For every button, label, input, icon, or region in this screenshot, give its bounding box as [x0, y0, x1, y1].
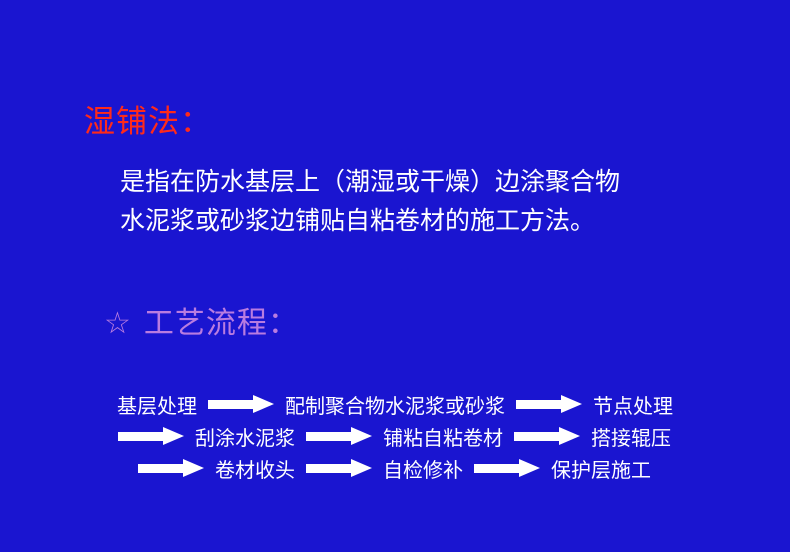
flow-label: 卷材收头: [209, 454, 301, 483]
flow-label: 刮涂水泥浆: [189, 422, 301, 451]
flow-label: 节点处理: [587, 390, 679, 419]
flow-label: 保护层施工: [545, 454, 657, 483]
arrow-right-icon: [118, 427, 184, 445]
arrow-right-icon: [138, 459, 204, 477]
arrow-right-icon: [516, 395, 582, 413]
arrow-right-icon: [514, 427, 580, 445]
flow-label: 搭接辊压: [585, 422, 677, 451]
arrow-right-icon: [474, 459, 540, 477]
flow-label: 基层处理: [111, 390, 203, 419]
arrow-right-icon: [306, 427, 372, 445]
section-heading-label: 工艺流程：: [144, 306, 299, 341]
slide-body-text: 是指在防水基层上（潮湿或干燥）边涂聚合物 水泥浆或砂浆边铺贴自粘卷材的施工方法。: [120, 162, 760, 240]
process-flow-diagram: 基层处理 配制聚合物水泥浆或砂浆 节点处理 刮涂水泥浆 铺粘自粘卷材 搭接辊压 …: [0, 388, 790, 484]
flow-label: 自检修补: [377, 454, 469, 483]
flow-label: 铺粘自粘卷材: [377, 422, 509, 451]
flow-row: 卷材收头 自检修补 保护层施工: [0, 452, 790, 484]
flow-row: 基层处理 配制聚合物水泥浆或砂浆 节点处理: [0, 388, 790, 420]
slide-canvas: 湿铺法： 是指在防水基层上（潮湿或干燥）边涂聚合物 水泥浆或砂浆边铺贴自粘卷材的…: [0, 0, 790, 552]
arrow-right-icon: [306, 459, 372, 477]
star-icon: ☆: [104, 306, 132, 341]
arrow-right-icon: [208, 395, 274, 413]
flow-label: 配制聚合物水泥浆或砂浆: [279, 390, 511, 419]
slide-title: 湿铺法：: [84, 96, 212, 141]
section-heading-row: ☆工艺流程：: [104, 298, 299, 342]
flow-row: 刮涂水泥浆 铺粘自粘卷材 搭接辊压: [0, 420, 790, 452]
